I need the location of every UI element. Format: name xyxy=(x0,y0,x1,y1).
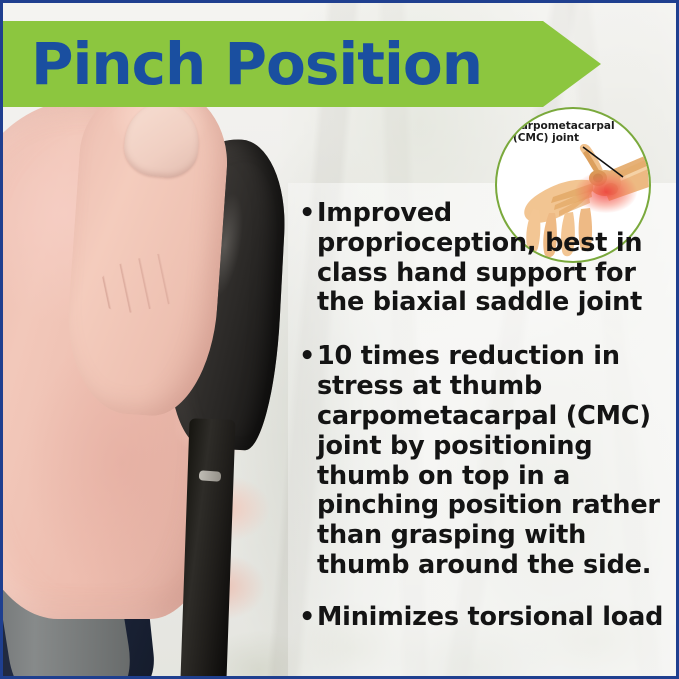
list-item: • Improved proprioception, best in class… xyxy=(299,199,671,318)
list-item: • 10 times reduction in stress at thumb … xyxy=(299,342,671,581)
bullet-text: Improved proprioception, best in class h… xyxy=(317,199,671,318)
feature-bullet-list: • Improved proprioception, best in class… xyxy=(299,199,671,649)
bullet-marker-icon: • xyxy=(299,603,315,633)
hand-grip-photo xyxy=(3,89,303,679)
product-feature-poster: Pinch Position xyxy=(0,0,679,679)
bullet-marker-icon: • xyxy=(299,342,315,372)
bullet-text: Minimizes torsional load xyxy=(317,603,671,633)
page-title: Pinch Position xyxy=(3,35,482,93)
bullet-text: 10 times reduction in stress at thumb ca… xyxy=(317,342,671,581)
title-banner: Pinch Position xyxy=(3,21,601,107)
list-item: • Minimizes torsional load xyxy=(299,603,671,633)
cmc-joint-label: Carpometacarpal (CMC) joint xyxy=(513,120,631,145)
trekking-pole-shaft xyxy=(180,418,235,679)
pole-lock-clip xyxy=(199,470,222,482)
bullet-marker-icon: • xyxy=(299,199,315,229)
cmc-label-line-2: (CMC) joint xyxy=(513,132,579,144)
cmc-label-line-1: Carpometacarpal xyxy=(513,120,615,132)
